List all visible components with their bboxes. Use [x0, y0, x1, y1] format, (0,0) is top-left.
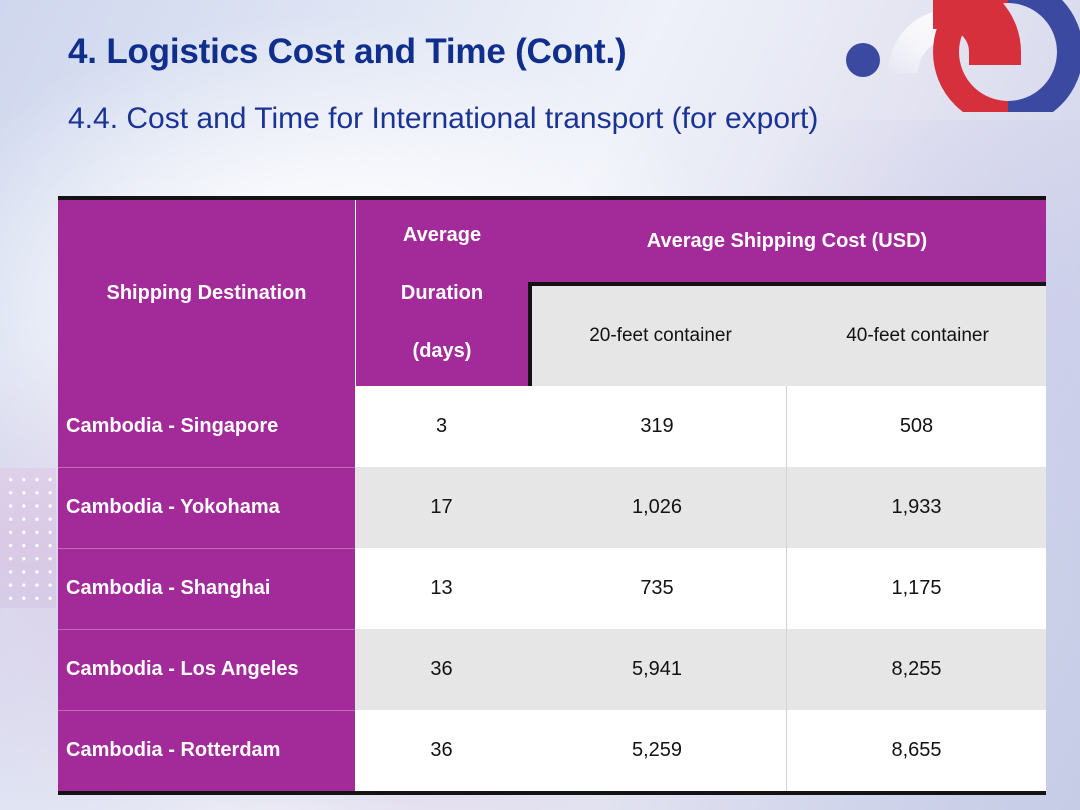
cell-cost-20ft: 5,941 — [528, 629, 787, 710]
cell-cost-40ft: 1,933 — [787, 467, 1046, 548]
cell-destination-label: Cambodia - Yokohama — [66, 496, 280, 519]
table-row: Cambodia - Shanghai 13 735 1,175 — [58, 548, 1046, 629]
table-row: Cambodia - Yokohama 17 1,026 1,933 — [58, 467, 1046, 548]
header-shipping-destination-label: Shipping Destination — [107, 282, 307, 305]
cell-destination: Cambodia - Shanghai — [58, 548, 355, 629]
cell-duration: 13 — [355, 548, 528, 629]
table-row: Cambodia - Rotterdam 36 5,259 8,655 — [58, 710, 1046, 791]
header-average-shipping-cost-label: Average Shipping Cost (USD) — [528, 200, 1046, 282]
cell-destination: Cambodia - Singapore — [58, 386, 355, 467]
cell-cost-20ft: 1,026 — [528, 467, 787, 548]
decorative-corner-graphic — [820, 0, 1080, 112]
cell-destination-label: Cambodia - Shanghai — [66, 577, 270, 600]
navy-dot-icon — [846, 43, 880, 77]
header-average-duration-label: AverageDuration(days) — [401, 221, 483, 366]
header-container-subcolumns: 20-feet container 40-feet container — [528, 282, 1046, 386]
cell-destination-label: Cambodia - Rotterdam — [66, 739, 280, 762]
cell-cost-40ft: 8,255 — [787, 629, 1046, 710]
table-header: Shipping Destination AverageDuration(day… — [58, 200, 1046, 386]
slide-canvas: 4. Logistics Cost and Time (Cont.) 4.4. … — [0, 0, 1080, 810]
cell-duration: 36 — [355, 629, 528, 710]
cell-duration: 17 — [355, 467, 528, 548]
cell-duration: 36 — [355, 710, 528, 791]
cell-cost-20ft: 5,259 — [528, 710, 787, 791]
cell-destination: Cambodia - Los Angeles — [58, 629, 355, 710]
cell-destination-label: Cambodia - Singapore — [66, 415, 278, 438]
header-20ft-container: 20-feet container — [532, 286, 789, 386]
header-40ft-container: 40-feet container — [789, 286, 1046, 386]
shipping-cost-table: Shipping Destination AverageDuration(day… — [58, 196, 1046, 795]
header-average-duration: AverageDuration(days) — [356, 200, 528, 386]
cell-cost-40ft: 8,655 — [787, 710, 1046, 791]
cell-cost-40ft: 1,175 — [787, 548, 1046, 629]
cell-cost-20ft: 319 — [528, 386, 787, 467]
cell-destination: Cambodia - Rotterdam — [58, 710, 355, 791]
cell-destination-label: Cambodia - Los Angeles — [66, 658, 299, 681]
cell-cost-20ft: 735 — [528, 548, 787, 629]
page-subtitle: 4.4. Cost and Time for International tra… — [68, 100, 948, 138]
page-title: 4. Logistics Cost and Time (Cont.) — [68, 32, 626, 72]
cell-cost-40ft: 508 — [787, 386, 1046, 467]
cell-duration: 3 — [355, 386, 528, 467]
dot-grid-icon — [0, 470, 56, 606]
cell-destination: Cambodia - Yokohama — [58, 467, 355, 548]
header-shipping-destination: Shipping Destination — [58, 200, 355, 386]
table-row: Cambodia - Los Angeles 36 5,941 8,255 — [58, 629, 1046, 710]
table-row: Cambodia - Singapore 3 319 508 — [58, 386, 1046, 467]
table-body: Cambodia - Singapore 3 319 508 Cambodia … — [58, 386, 1046, 791]
